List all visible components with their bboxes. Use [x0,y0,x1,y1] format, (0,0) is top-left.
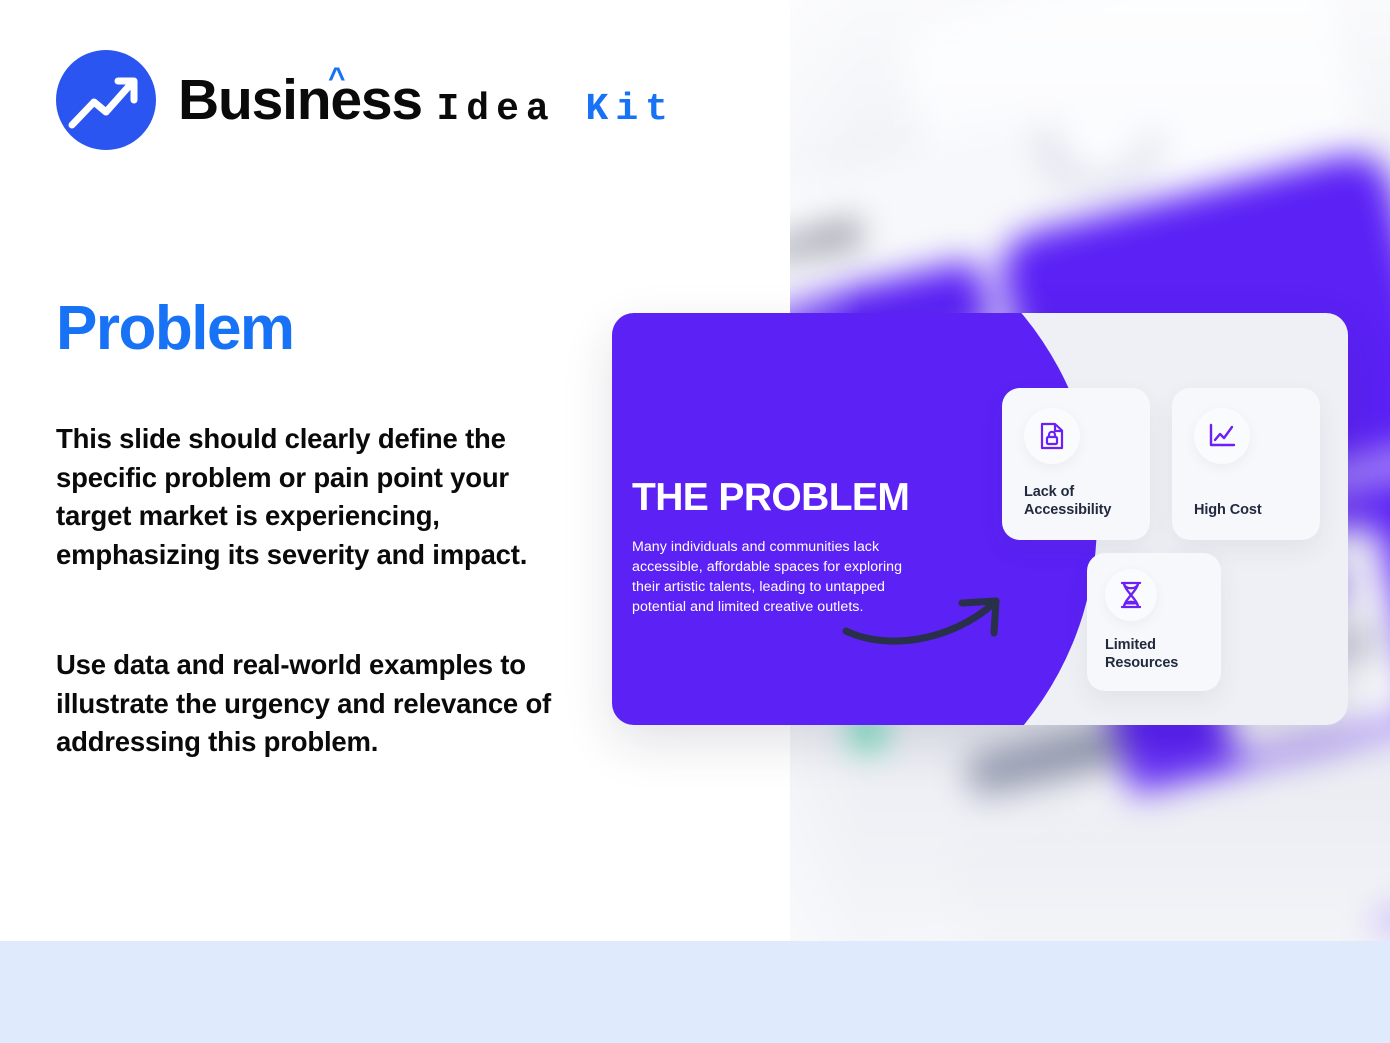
slide-page: Business ^ Idea Kit Problem This slide s… [0,0,1390,1043]
brand-name-top: Business ^ [178,68,436,132]
feature-card-lack-of-accessibility[interactable]: Lack of Accessibility [1002,388,1150,540]
brand-name-kit: Kit [586,88,675,131]
brand-wordmark: Business ^ Idea Kit [178,72,675,129]
description-paragraph-1: This slide should clearly define the spe… [56,420,566,574]
brand-name-bottom: Idea Kit [436,88,674,131]
brand-circumflex-accent: ^ [328,64,344,94]
brand-name-top-text: Business [178,68,422,132]
feature-card-label: High Cost [1194,502,1310,520]
page-title: Problem [56,296,294,361]
footer-bar [0,941,1390,1043]
feature-card-label: Lack of Accessibility [1024,484,1140,520]
curved-arrow-icon [842,589,1012,649]
slide-preview-card[interactable]: THE PROBLEM Many individuals and communi… [612,313,1348,725]
brand-logo[interactable]: Business ^ Idea Kit [56,50,675,150]
brand-name-idea: Idea [436,88,585,131]
feature-card-limited-resources[interactable]: Limited Resources [1087,553,1221,691]
slide-heading: THE PROBLEM [632,478,962,517]
line-chart-icon [1194,408,1250,464]
feature-card-high-cost[interactable]: High Cost [1172,388,1320,540]
hourglass-icon [1105,569,1157,621]
description-paragraph-2: Use data and real-world examples to illu… [56,646,566,762]
feature-card-label: Limited Resources [1105,637,1211,673]
trending-up-arrow-icon [56,50,156,150]
document-lock-icon [1024,408,1080,464]
